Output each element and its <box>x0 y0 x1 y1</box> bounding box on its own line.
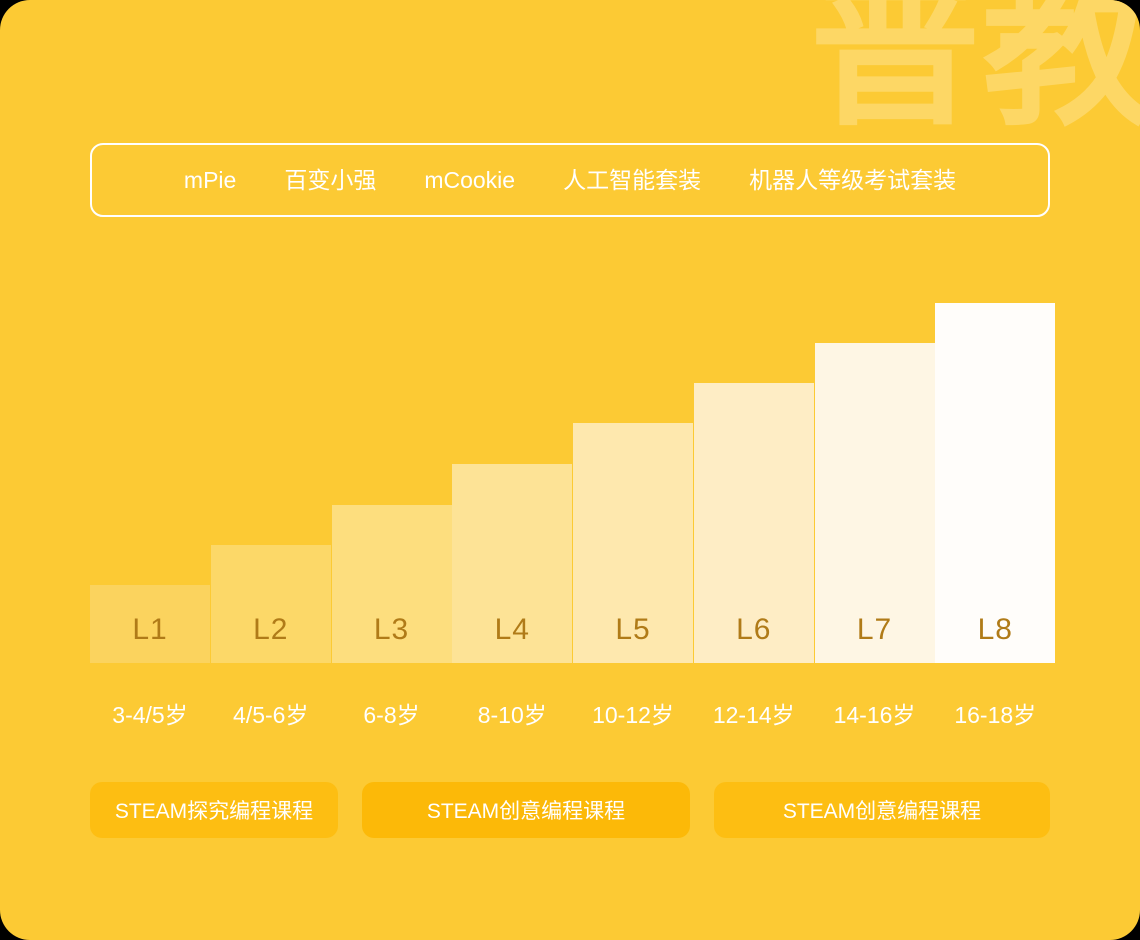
bar-label-l6: L6 <box>694 615 814 645</box>
course-button-steam-explore[interactable]: STEAM探究编程课程 <box>90 782 338 838</box>
product-tab-bar: mPie 百变小强 mCookie 人工智能套装 机器人等级考试套装 <box>90 143 1050 217</box>
age-label-l6: 12-14岁 <box>694 700 814 730</box>
course-button-steam-creative-1[interactable]: STEAM创意编程课程 <box>362 782 690 838</box>
bar-l4: L4 <box>452 464 572 663</box>
tab-baibian-xiaoqiang[interactable]: 百变小强 <box>260 169 400 192</box>
bar-label-l8: L8 <box>935 615 1055 645</box>
level-bar-chart: L1 L2 L3 L4 L5 L6 L7 L8 <box>90 290 1050 663</box>
tab-robot-exam-kit[interactable]: 机器人等级考试套装 <box>725 169 980 192</box>
age-range-axis: 3-4/5岁 4/5-6岁 6-8岁 8-10岁 10-12岁 12-14岁 1… <box>90 700 1050 730</box>
bar-label-l1: L1 <box>90 615 210 645</box>
bar-l8: L8 <box>935 303 1055 663</box>
age-label-l5: 10-12岁 <box>573 700 693 730</box>
age-label-l2: 4/5-6岁 <box>211 700 331 730</box>
age-label-l7: 14-16岁 <box>815 700 935 730</box>
bar-l2: L2 <box>211 545 331 663</box>
course-button-steam-creative-2[interactable]: STEAM创意编程课程 <box>714 782 1050 838</box>
bar-label-l2: L2 <box>211 615 331 645</box>
bar-l1: L1 <box>90 585 210 663</box>
tab-ai-kit[interactable]: 人工智能套装 <box>539 169 725 192</box>
watermark-text: 普教 <box>810 0 1140 136</box>
bar-l5: L5 <box>573 423 693 663</box>
age-label-l1: 3-4/5岁 <box>90 700 210 730</box>
product-level-card: 普教 mPie 百变小强 mCookie 人工智能套装 机器人等级考试套装 L1… <box>0 0 1140 940</box>
course-button-row: STEAM探究编程课程 STEAM创意编程课程 STEAM创意编程课程 <box>90 782 1050 838</box>
tab-mpie[interactable]: mPie <box>160 169 260 192</box>
bar-l3: L3 <box>332 505 452 663</box>
bar-label-l7: L7 <box>815 615 935 645</box>
tab-mcookie[interactable]: mCookie <box>400 169 539 192</box>
bar-l6: L6 <box>694 383 814 663</box>
bar-label-l4: L4 <box>452 615 572 645</box>
bar-label-l5: L5 <box>573 615 693 645</box>
bar-label-l3: L3 <box>332 615 452 645</box>
age-label-l3: 6-8岁 <box>332 700 452 730</box>
age-label-l8: 16-18岁 <box>935 700 1055 730</box>
bar-l7: L7 <box>815 343 935 663</box>
age-label-l4: 8-10岁 <box>452 700 572 730</box>
